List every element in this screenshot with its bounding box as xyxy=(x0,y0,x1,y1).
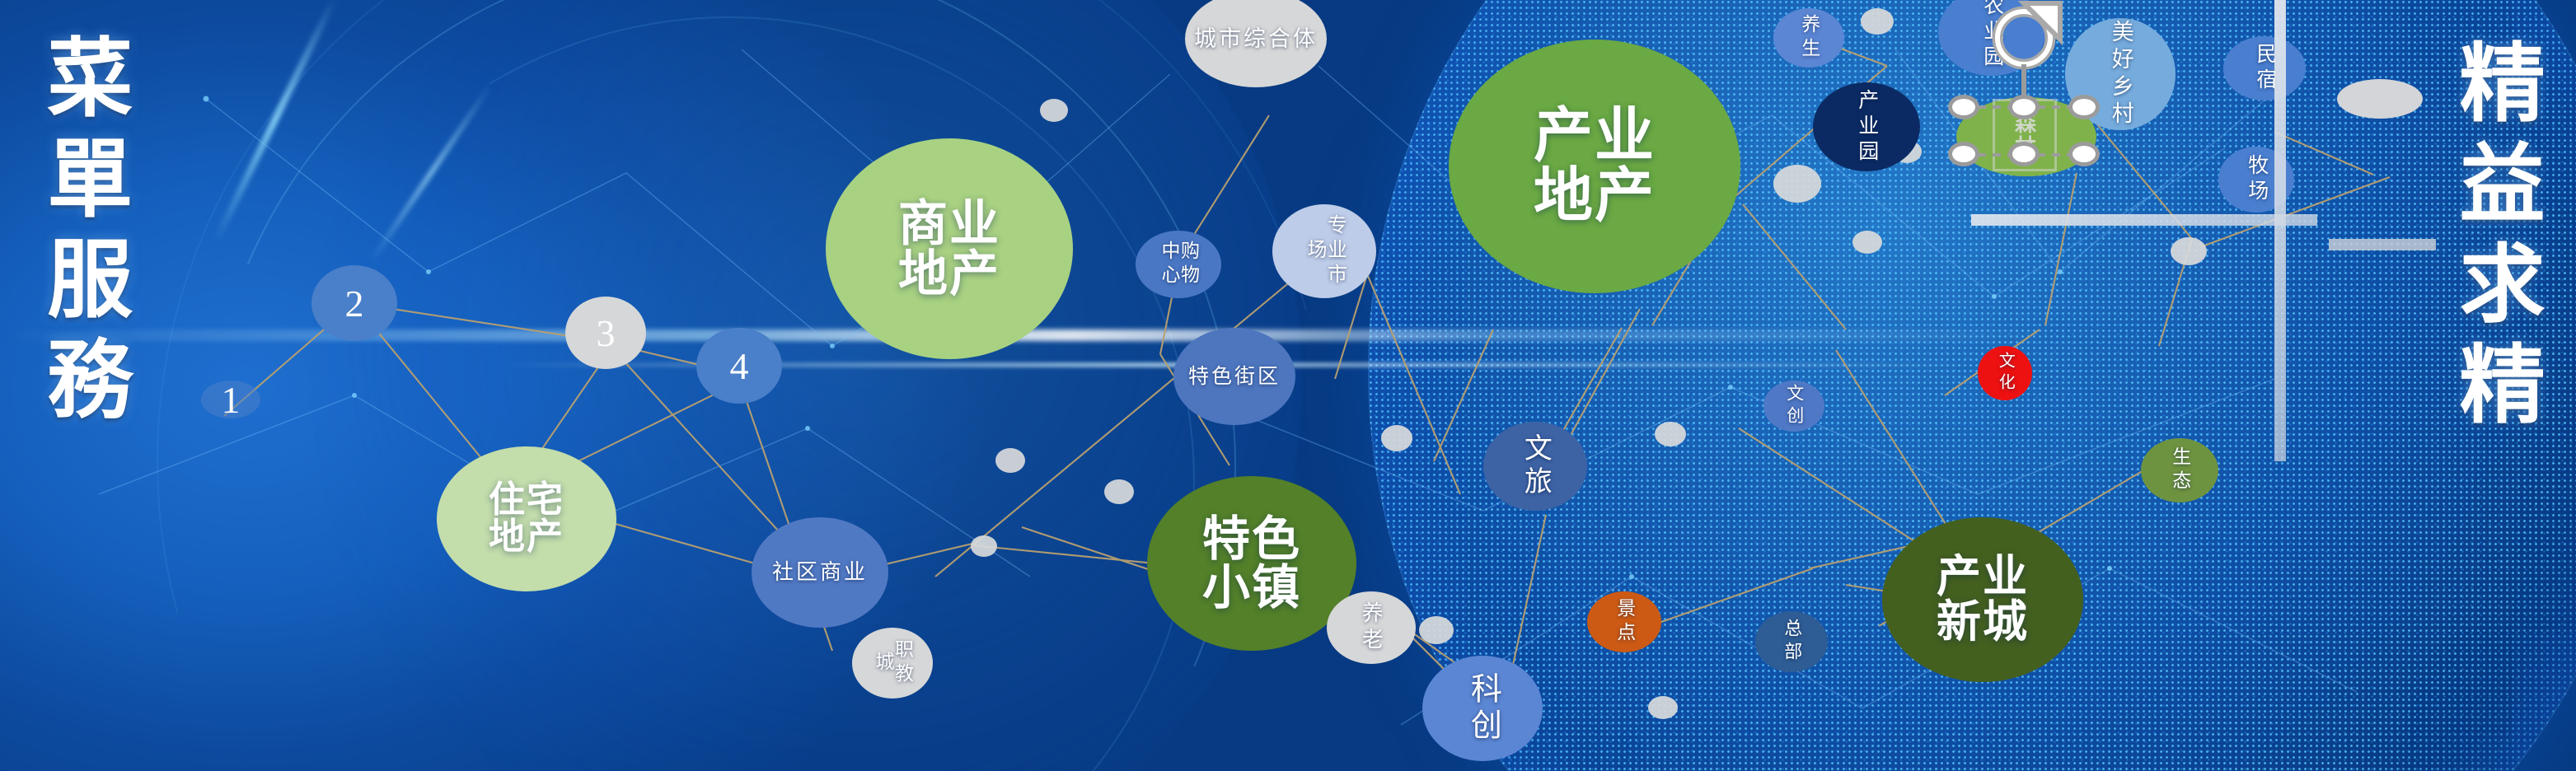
decor-dot-14 xyxy=(971,535,997,557)
node-number-3[interactable]: 3 xyxy=(565,297,646,369)
bubble-commercial-line1: 商业 xyxy=(898,199,1000,249)
headquarters-label: 总部 xyxy=(1782,619,1801,665)
decor-dot-3 xyxy=(1104,479,1134,504)
bubble-town-line2: 小镇 xyxy=(1202,563,1301,612)
bubble-headquarters[interactable]: 总部 xyxy=(1755,611,1828,672)
wellness-label: 养生 xyxy=(1799,14,1818,62)
bubble-culture[interactable]: 文化 xyxy=(1978,346,2032,400)
bubble-commercial-real-estate[interactable]: 商业 地产 xyxy=(826,138,1073,359)
decor-dot-6 xyxy=(1655,422,1686,446)
bubble-ecology[interactable]: 生态 xyxy=(2141,438,2218,502)
forest-node-tr xyxy=(2068,95,2100,119)
node-number-4-label: 4 xyxy=(730,344,749,388)
left-calligraphy-text: 菜單服務 xyxy=(30,33,131,435)
decor-dot-11 xyxy=(1852,231,1882,254)
forest-node-bc xyxy=(2008,142,2040,166)
decor-dot-1 xyxy=(1040,99,1068,122)
bubble-industrial-park[interactable]: 产业园 xyxy=(1813,82,1920,171)
bubble-community-commerce[interactable]: 社区商业 xyxy=(752,517,888,628)
decor-dot-2 xyxy=(995,448,1025,473)
community-commerce-label: 社区商业 xyxy=(772,560,868,584)
bubble-newcity-line2: 新城 xyxy=(1937,600,2029,645)
culture-label: 文化 xyxy=(1997,352,2013,395)
forest-node-br xyxy=(2068,142,2100,166)
ecology-label: 生态 xyxy=(2170,446,2189,494)
bubble-health-wellness[interactable]: 养生 xyxy=(1773,8,1844,68)
bubble-residential-line1: 住宅 xyxy=(489,482,564,519)
bubble-homestay[interactable]: 民宿 xyxy=(2223,36,2306,100)
bubble-industrial-line1: 产业 xyxy=(1534,106,1656,166)
bubble-industrial-real-estate[interactable]: 产业 地产 xyxy=(1449,40,1740,293)
bubble-elderly-care[interactable]: 养老 xyxy=(1327,591,1416,664)
crosshair-horizontal xyxy=(1971,214,2317,226)
bubble-vocational-education-city[interactable]: 职教城 xyxy=(852,628,933,699)
bubble-specialty-market[interactable]: 专业市场 xyxy=(1272,204,1376,298)
vocational-city-label: 职教城 xyxy=(873,628,912,699)
node-number-1-label: 1 xyxy=(222,378,241,422)
bubble-shopping-center[interactable]: 购物中心 xyxy=(1136,231,1221,298)
node-number-3-label: 3 xyxy=(597,311,616,355)
scenic-spot-label: 景点 xyxy=(1614,598,1633,646)
right-calligraphy-text: 精益求精 xyxy=(2442,38,2543,440)
bubble-town-line1: 特色 xyxy=(1202,515,1301,563)
shopping-center-label: 购物中心 xyxy=(1159,231,1198,298)
bubble-commercial-line2: 地产 xyxy=(898,249,1000,299)
ranch-label: 牧场 xyxy=(2246,154,2267,205)
bubble-industrial-line2: 地产 xyxy=(1534,166,1656,227)
infographic-canvas: 菜單服務 精益求精 1 2 3 4 商业 地产 产业 地产 xyxy=(0,0,2576,771)
crosshair-vertical xyxy=(2274,0,2286,461)
decor-dot-7 xyxy=(1648,696,1678,719)
elderly-care-label: 养老 xyxy=(1361,601,1383,654)
feature-street-label: 特色街区 xyxy=(1188,365,1281,388)
bubble-feature-street[interactable]: 特色街区 xyxy=(1173,328,1295,425)
node-number-1[interactable]: 1 xyxy=(201,381,260,418)
tech-innovation-label: 科创 xyxy=(1467,672,1499,745)
bubble-cultural-creative[interactable]: 文创 xyxy=(1763,381,1824,432)
urban-complex-line1: 城市综合体 xyxy=(1194,26,1318,51)
forest-node-tc xyxy=(2008,95,2040,119)
cultural-creative-label: 文创 xyxy=(1785,384,1802,428)
gray-marker-bar xyxy=(2329,239,2436,250)
bubble-scenic-spot[interactable]: 景点 xyxy=(1587,591,1661,652)
bubble-characteristic-town[interactable]: 特色 小镇 xyxy=(1147,476,1356,651)
bubble-industrial-new-city[interactable]: 产业 新城 xyxy=(1882,517,2083,682)
forest-node-tl xyxy=(1948,95,1979,119)
decor-dot-9 xyxy=(1773,165,1821,203)
bubble-tech-innovation[interactable]: 科创 xyxy=(1422,656,1543,761)
culture-tourism-label: 文旅 xyxy=(1521,433,1550,499)
decor-dot-12 xyxy=(2171,237,2207,265)
industrial-park-label: 产业园 xyxy=(1856,89,1877,166)
forest-node-bl xyxy=(1948,142,1979,166)
homestay-label: 民宿 xyxy=(2254,43,2275,94)
bubble-culture-tourism[interactable]: 文旅 xyxy=(1483,422,1587,511)
bubble-newcity-line1: 产业 xyxy=(1937,554,2029,600)
node-number-2[interactable]: 2 xyxy=(311,265,397,341)
decor-dot-5 xyxy=(1419,616,1454,644)
forest-widget[interactable]: 森林 xyxy=(1913,0,2161,173)
decor-dot-8 xyxy=(1861,8,1894,35)
bubble-residential-line2: 地产 xyxy=(489,519,564,556)
node-number-2-label: 2 xyxy=(345,282,364,325)
specialty-market-label: 专业市场 xyxy=(1304,204,1345,298)
decor-dot-4 xyxy=(1381,425,1412,451)
bubble-residential-real-estate[interactable]: 住宅 地产 xyxy=(437,446,616,591)
node-number-4[interactable]: 4 xyxy=(696,328,782,404)
gray-marker-ellipse xyxy=(2337,79,2423,119)
